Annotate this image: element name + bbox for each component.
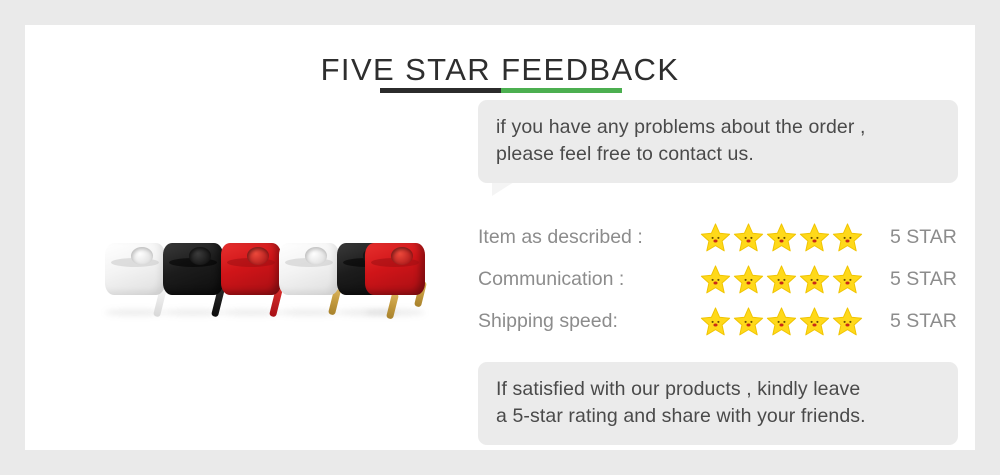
divider-dark-segment	[380, 88, 501, 93]
star-icon	[832, 306, 863, 337]
rating-label: Item as described :	[478, 226, 700, 249]
product-image	[65, 205, 435, 355]
star-icon	[766, 264, 797, 295]
star-icon	[766, 222, 797, 253]
feedback-column: if you have any problems about the order…	[478, 100, 958, 445]
lace-hole	[305, 247, 327, 265]
contact-message-line-2: please feel free to contact us.	[496, 141, 940, 168]
rating-value: 5 STAR	[890, 310, 957, 333]
lace-hole	[189, 247, 211, 265]
star-icon	[700, 222, 731, 253]
contact-message-bubble: if you have any problems about the order…	[478, 100, 958, 183]
rating-row: Item as described : 5 STAR	[478, 219, 958, 256]
star-icon	[832, 264, 863, 295]
lace-hole	[131, 247, 153, 265]
star-icon	[799, 222, 830, 253]
rating-stars	[700, 222, 868, 253]
rating-label: Communication :	[478, 268, 700, 291]
lace-hole	[391, 247, 413, 265]
title-divider	[380, 88, 622, 93]
star-icon	[700, 306, 731, 337]
rating-label: Shipping speed:	[478, 310, 700, 333]
ratings-list: Item as described : 5 STAR Communication…	[478, 219, 958, 340]
star-icon	[733, 264, 764, 295]
rating-row: Communication : 5 STAR	[478, 261, 958, 298]
star-icon	[733, 306, 764, 337]
star-icon	[766, 306, 797, 337]
rating-stars	[700, 264, 868, 295]
rating-row: Shipping speed: 5 STAR	[478, 303, 958, 340]
content-panel: FIVE STAR FEEDBACK	[25, 25, 975, 450]
lace-roll-black-1	[163, 243, 223, 295]
contact-message-line-1: if you have any problems about the order…	[496, 114, 940, 141]
rating-value: 5 STAR	[890, 226, 957, 249]
lace-roll-white-1	[105, 243, 165, 295]
star-icon	[832, 222, 863, 253]
satisfaction-message-bubble: If satisfied with our products , kindly …	[478, 362, 958, 445]
satisfaction-message-line-1: If satisfied with our products , kindly …	[496, 376, 940, 403]
star-icon	[733, 222, 764, 253]
star-icon	[799, 264, 830, 295]
rating-stars	[700, 306, 868, 337]
lace-roll-white-2	[279, 243, 339, 295]
lace-roll-red-1	[221, 243, 281, 295]
lace-roll-red-2	[365, 243, 425, 295]
rating-value: 5 STAR	[890, 268, 957, 291]
star-icon	[799, 306, 830, 337]
divider-green-segment	[501, 88, 622, 93]
star-icon	[700, 264, 731, 295]
satisfaction-message-line-2: a 5-star rating and share with your frie…	[496, 403, 940, 430]
feedback-banner: FIVE STAR FEEDBACK	[0, 0, 1000, 475]
lace-hole	[247, 247, 269, 265]
page-title: FIVE STAR FEEDBACK	[25, 52, 975, 88]
